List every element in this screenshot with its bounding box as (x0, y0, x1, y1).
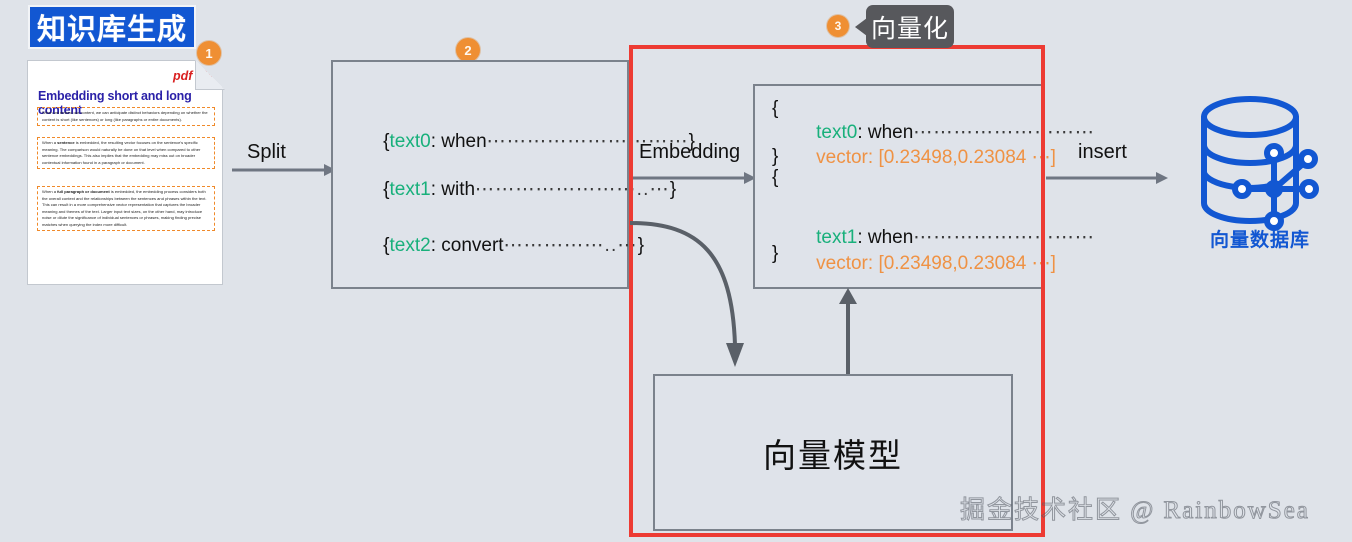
vector-entry1-vector: vector: [0.23498,0.23084 ⋯] (795, 230, 1056, 297)
pdf-paragraph-1: When we embed our content, we can antici… (37, 107, 215, 126)
embedding-arrow (630, 168, 756, 188)
vectorize-tooltip-label: 向量化 (871, 9, 949, 45)
vector-entry0-vector: vector: [0.23498,0.23084 ⋯] (795, 124, 1056, 191)
insert-arrow (1046, 168, 1168, 188)
vector-entry0-vector-key: vector (816, 147, 868, 168)
step-badge-2: 2 (456, 38, 480, 62)
split-key-0: text0 (389, 131, 430, 152)
vector-entry0-vector-value: [0.23498,0.23084 ⋯] (878, 147, 1055, 168)
vector-brace-close-2: } (772, 243, 778, 265)
split-colon-0: : (431, 131, 442, 152)
title-banner-label: 知识库生成 (37, 6, 187, 48)
split-dots-2: ⋯⋯⋯⋯⋯..⋯ (504, 235, 638, 256)
vector-brace-close-1: } (772, 146, 778, 168)
vector-model-label: 向量模型 (653, 374, 1013, 531)
vector-entry1-vector-value: [0.23498,0.23084 ⋯] (878, 253, 1055, 274)
vector-entry0-vector-colon: : (868, 147, 879, 168)
diagram-canvas: 知识库生成 1 2 3 pdf file Embedding short and… (0, 0, 1352, 542)
pdf-paragraph-2: When a sentence is embedded, the resulti… (37, 137, 215, 169)
embedding-arrow-label: Embedding (639, 141, 740, 164)
vector-brace-open-1: { (772, 98, 778, 120)
pdf-document: pdf file Embedding short and long conten… (27, 60, 223, 285)
split-colon-1: : (431, 179, 442, 200)
vector-database-icon (1186, 85, 1334, 245)
pdf-file-type-label: pdf file (28, 69, 214, 83)
split-line-2: {text2: convert⋯⋯⋯⋯⋯..⋯} (362, 212, 644, 279)
vectorize-tooltip: 向量化 (866, 5, 954, 48)
split-value-0: when (441, 131, 486, 152)
vector-database-label: 向量数据库 (1186, 225, 1334, 252)
step-badge-1: 1 (197, 41, 221, 65)
vector-brace-open-2: { (772, 167, 778, 189)
watermark: 掘金技术社区 @ RainbowSea (960, 490, 1310, 526)
split-arrow (232, 160, 336, 180)
split-colon-2: : (431, 235, 442, 256)
split-value-1: with (441, 179, 475, 200)
vector-entry1-vector-colon: : (868, 253, 879, 274)
split-to-model-curved-arrow (620, 215, 760, 385)
pdf-paragraph-3: When a full paragraph or document is emb… (37, 186, 215, 231)
insert-arrow-label: insert (1078, 141, 1127, 164)
title-banner: 知识库生成 (28, 5, 196, 49)
step-badge-3: 3 (827, 15, 849, 37)
split-key-2: text2 (389, 235, 430, 256)
vector-entry1-vector-key: vector (816, 253, 868, 274)
split-value-2: convert (441, 235, 503, 256)
model-to-vector-arrow (836, 288, 860, 378)
split-key-1: text1 (389, 179, 430, 200)
